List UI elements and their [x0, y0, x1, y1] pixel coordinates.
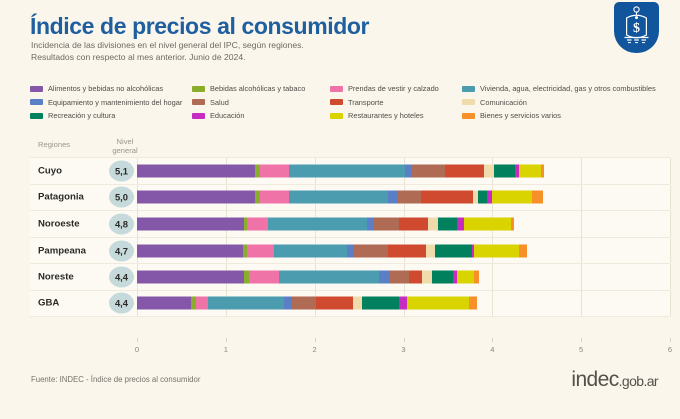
stacked-bar	[137, 271, 479, 284]
bar-segment[interactable]	[388, 191, 397, 204]
table-row: Patagonia5,0	[30, 184, 670, 211]
page-title: Índice de precios al consumidor	[30, 13, 369, 40]
bar-segment[interactable]	[457, 217, 464, 230]
row-plot-area	[137, 185, 670, 211]
legend-label: Bebidas alcohólicas y tabaco	[210, 84, 305, 93]
stacked-bar	[137, 191, 543, 204]
bar-segment[interactable]	[478, 191, 487, 204]
footer: Fuente: INDEC - Índice de precios al con…	[0, 368, 680, 419]
bar-segment[interactable]	[268, 217, 367, 230]
page-subtitle: Incidencia de las divisiones en el nivel…	[31, 40, 304, 63]
bar-segment[interactable]	[367, 217, 374, 230]
legend-label: Vivienda, agua, electricidad, gas y otro…	[480, 84, 656, 93]
row-plot-area	[137, 211, 670, 237]
legend-label: Recreación y cultura	[48, 111, 115, 120]
stacked-bar	[137, 244, 527, 257]
indec-wordmark: indec.gob.ar	[571, 368, 658, 392]
table-row: Pampeana4,7	[30, 237, 670, 264]
axis-tick-label: 2	[313, 345, 317, 354]
stacked-bar	[137, 164, 544, 177]
table-row: GBA4,4	[30, 290, 670, 317]
legend-item[interactable]: Prendas de vestir y calzado	[330, 82, 460, 96]
bar-segment[interactable]	[541, 164, 544, 177]
bar-segment[interactable]	[494, 164, 515, 177]
axis-tick-label: 4	[490, 345, 494, 354]
gridline	[670, 211, 671, 237]
gridline	[670, 158, 671, 184]
bar-segment[interactable]	[474, 271, 479, 284]
legend-item[interactable]: Restaurantes y hoteles	[330, 109, 460, 123]
bar-segment[interactable]	[379, 271, 390, 284]
legend-swatch-icon	[462, 86, 475, 92]
gridline	[670, 264, 671, 290]
legend-item[interactable]: Bienes y servicios varios	[462, 109, 672, 123]
axis-tick	[492, 338, 493, 342]
bar-segment[interactable]	[399, 217, 428, 230]
stacked-bar	[137, 217, 514, 230]
axis-tick-label: 5	[579, 345, 583, 354]
bar-segment[interactable]	[347, 244, 354, 257]
bar-segment[interactable]	[422, 271, 432, 284]
subtitle-line-2: Resultados con respecto al mes anterior.…	[31, 52, 304, 64]
legend-label: Equipamiento y mantenimiento del hogar	[48, 98, 182, 107]
legend-label: Restaurantes y hoteles	[348, 111, 424, 120]
legend-swatch-icon	[330, 113, 343, 119]
bar-segment[interactable]	[407, 297, 469, 310]
bar-segment[interactable]	[532, 191, 543, 204]
region-label: Noroeste	[38, 218, 80, 229]
bar-segment[interactable]	[354, 244, 389, 257]
nivel-general-value: 5,0	[109, 187, 134, 208]
bar-segment[interactable]	[388, 244, 425, 257]
table-row: Cuyo5,1	[30, 157, 670, 184]
chart-panel: Regiones Nivel general Cuyo5,1Patagonia5…	[30, 138, 670, 338]
shield-icon: $	[614, 2, 659, 53]
bar-segment[interactable]	[519, 164, 541, 177]
bar-segment[interactable]	[411, 164, 446, 177]
source-note: Fuente: INDEC - Índice de precios al con…	[31, 375, 200, 384]
nivel-general-value: 4,4	[109, 267, 134, 288]
bar-segment[interactable]	[432, 271, 453, 284]
legend-label: Prendas de vestir y calzado	[348, 84, 439, 93]
bar-segment[interactable]	[353, 297, 362, 310]
bar-segment[interactable]	[492, 191, 532, 204]
table-row: Noreste4,4	[30, 263, 670, 290]
bar-segment[interactable]	[208, 297, 284, 310]
bar-segment[interactable]	[137, 297, 191, 310]
bar-segment[interactable]	[421, 191, 473, 204]
bar-segment[interactable]	[247, 244, 274, 257]
bar-segment[interactable]	[249, 271, 279, 284]
bar-segment[interactable]	[247, 217, 268, 230]
bar-segment[interactable]	[511, 217, 515, 230]
bar-segment[interactable]	[137, 164, 255, 177]
axis-tick	[226, 338, 227, 342]
region-label: GBA	[38, 298, 59, 309]
legend-label: Educación	[210, 111, 245, 120]
legend-label: Comunicación	[480, 98, 527, 107]
legend-item[interactable]: Equipamiento y mantenimiento del hogar	[30, 96, 190, 110]
legend-swatch-icon	[330, 86, 343, 92]
legend-item[interactable]: Bebidas alcohólicas y tabaco	[192, 82, 320, 96]
bar-segment[interactable]	[196, 297, 208, 310]
nivel-general-value: 5,1	[109, 160, 134, 181]
brand-main: indec	[571, 368, 618, 391]
legend-swatch-icon	[30, 99, 43, 105]
nivel-line-2: general	[105, 147, 145, 156]
legend-swatch-icon	[192, 99, 205, 105]
bar-segment[interactable]	[409, 271, 422, 284]
indec-shield-logo: $	[614, 2, 659, 54]
bar-segment[interactable]	[484, 164, 494, 177]
legend-swatch-icon	[330, 99, 343, 105]
legend-item[interactable]: Alimentos y bebidas no alcohólicas	[30, 82, 190, 96]
axis-tick-label: 1	[224, 345, 228, 354]
axis-tick	[581, 338, 582, 342]
bar-segment[interactable]	[426, 244, 436, 257]
legend-label: Alimentos y bebidas no alcohólicas	[48, 84, 163, 93]
bar-segment[interactable]	[457, 271, 474, 284]
table-row: Noroeste4,8	[30, 210, 670, 237]
bar-segment[interactable]	[284, 297, 291, 310]
bar-segment[interactable]	[438, 217, 457, 230]
column-header-nivel-general: Nivel general	[105, 138, 145, 155]
stacked-bar	[137, 297, 477, 310]
price-tag-peso-icon: $	[614, 2, 659, 53]
bar-segment[interactable]	[292, 297, 317, 310]
region-label: Cuyo	[38, 165, 62, 176]
legend-column-1: Alimentos y bebidas no alcohólicasEquipa…	[30, 82, 190, 123]
bar-segment[interactable]	[399, 297, 407, 310]
gridline	[670, 238, 671, 264]
bar-segment[interactable]	[137, 271, 244, 284]
chart-rows: Cuyo5,1Patagonia5,0Noroeste4,8Pampeana4,…	[30, 157, 670, 317]
x-axis: 0123456	[137, 338, 670, 360]
bar-segment[interactable]	[316, 297, 352, 310]
region-label: Noreste	[38, 272, 74, 283]
bar-segment[interactable]	[260, 164, 289, 177]
axis-tick-label: 3	[401, 345, 405, 354]
row-plot-area	[137, 158, 670, 184]
subtitle-line-1: Incidencia de las divisiones en el nivel…	[31, 40, 304, 52]
legend-column-3: Prendas de vestir y calzadoTransporteRes…	[330, 82, 460, 123]
bar-segment[interactable]	[469, 297, 477, 310]
svg-text:$: $	[633, 21, 640, 36]
legend: Alimentos y bebidas no alcohólicasEquipa…	[30, 82, 670, 124]
legend-item[interactable]: Vivienda, agua, electricidad, gas y otro…	[462, 82, 672, 96]
bar-segment[interactable]	[362, 297, 399, 310]
infographic-page: Índice de precios al consumidor Incidenc…	[0, 0, 680, 419]
header: Índice de precios al consumidor Incidenc…	[0, 0, 680, 78]
nivel-general-value: 4,7	[109, 240, 134, 261]
bar-segment[interactable]	[260, 191, 289, 204]
gridline	[670, 291, 671, 316]
bar-segment[interactable]	[289, 191, 388, 204]
bar-segment[interactable]	[435, 244, 471, 257]
axis-tick	[137, 338, 138, 342]
row-plot-area	[137, 238, 670, 264]
nivel-general-value: 4,4	[109, 293, 134, 314]
legend-item[interactable]: Transporte	[330, 96, 460, 110]
row-plot-area	[137, 264, 670, 290]
nivel-general-value: 4,8	[109, 213, 134, 234]
bar-segment[interactable]	[137, 191, 255, 204]
legend-swatch-icon	[462, 113, 475, 119]
legend-label: Bienes y servicios varios	[480, 111, 561, 120]
legend-label: Salud	[210, 98, 229, 107]
legend-swatch-icon	[192, 113, 205, 119]
bar-segment[interactable]	[137, 217, 244, 230]
bar-segment[interactable]	[445, 164, 484, 177]
bar-segment[interactable]	[464, 217, 511, 230]
legend-item[interactable]: Educación	[192, 109, 320, 123]
column-header-regiones: Regiones	[38, 141, 70, 150]
legend-swatch-icon	[462, 99, 475, 105]
bar-segment[interactable]	[519, 244, 527, 257]
axis-tick-label: 0	[135, 345, 139, 354]
bar-segment[interactable]	[428, 217, 438, 230]
legend-swatch-icon	[30, 113, 43, 119]
gridline	[670, 185, 671, 211]
bar-segment[interactable]	[137, 244, 243, 257]
axis-tick	[404, 338, 405, 342]
legend-item[interactable]: Salud	[192, 96, 320, 110]
brand-suffix: .gob.ar	[619, 373, 658, 389]
bar-segment[interactable]	[397, 191, 421, 204]
bar-segment[interactable]	[289, 164, 405, 177]
region-label: Pampeana	[38, 245, 86, 256]
legend-swatch-icon	[30, 86, 43, 92]
bar-segment[interactable]	[389, 271, 409, 284]
row-plot-area	[137, 291, 670, 316]
axis-tick-label: 6	[668, 345, 672, 354]
bar-segment[interactable]	[279, 271, 378, 284]
legend-label: Transporte	[348, 98, 383, 107]
legend-column-2: Bebidas alcohólicas y tabacoSaludEducaci…	[192, 82, 320, 123]
bar-segment[interactable]	[374, 217, 399, 230]
axis-tick	[315, 338, 316, 342]
axis-tick	[670, 338, 671, 342]
region-label: Patagonia	[38, 192, 84, 203]
legend-swatch-icon	[192, 86, 205, 92]
legend-item[interactable]: Comunicación	[462, 96, 672, 110]
legend-column-4: Vivienda, agua, electricidad, gas y otro…	[462, 82, 672, 123]
bar-segment[interactable]	[474, 244, 518, 257]
bar-segment[interactable]	[274, 244, 347, 257]
legend-item[interactable]: Recreación y cultura	[30, 109, 190, 123]
